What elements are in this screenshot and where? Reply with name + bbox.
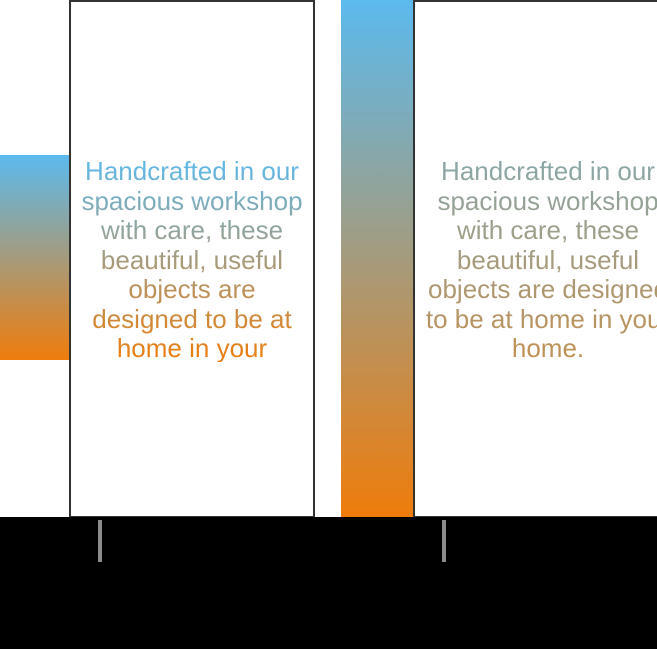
gradient-text-panel-right: Handcrafted in our spacious workshop wit…	[413, 0, 657, 518]
footer-tick-left	[98, 520, 102, 562]
left-gradient-swatch	[0, 155, 70, 360]
demo-stage: Handcrafted in our spacious workshop wit…	[0, 0, 657, 649]
right-gradient-swatch	[341, 0, 413, 517]
gradient-text-right: Handcrafted in our spacious workshop wit…	[415, 157, 657, 364]
gradient-text-left: Handcrafted in our spacious workshop wit…	[71, 157, 313, 393]
footer-tick-right	[442, 520, 446, 562]
gradient-text-panel-left: Handcrafted in our spacious workshop wit…	[69, 0, 315, 518]
